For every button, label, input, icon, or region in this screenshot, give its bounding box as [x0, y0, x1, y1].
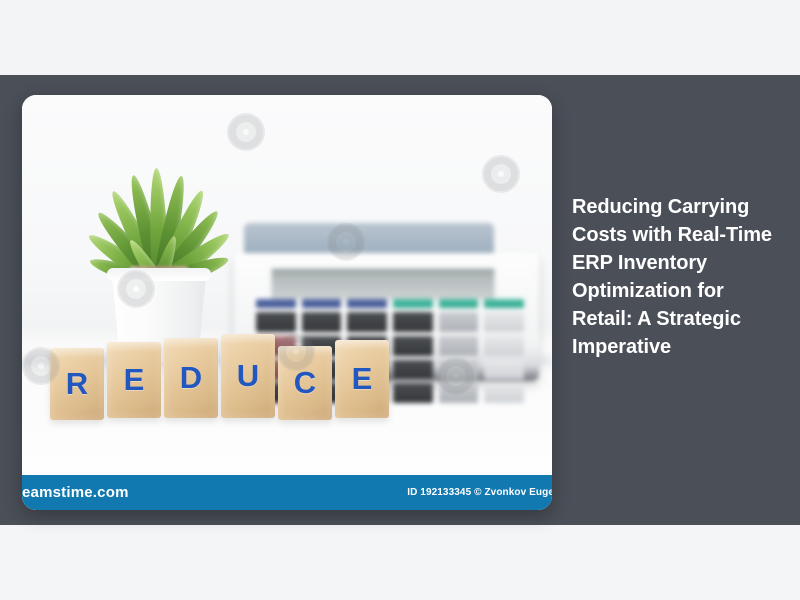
- letter-block: D: [164, 338, 218, 418]
- calculator-display: [270, 267, 496, 301]
- page-top-band: [0, 0, 800, 75]
- stock-photo: R E D U C E eamstime.com ID 192133345 © …: [22, 95, 552, 510]
- dreamstime-brand-label: eamstime.com: [22, 484, 129, 501]
- hero-section: R E D U C E eamstime.com ID 192133345 © …: [0, 75, 800, 525]
- dreamstime-watermark-icon: [482, 155, 520, 193]
- stock-photo-watermark-bar: eamstime.com ID 192133345 © Zvonkov Euge…: [22, 475, 552, 510]
- stock-photo-credit: ID 192133345 © Zvonkov Euger: [407, 487, 552, 498]
- letter-block: R: [50, 348, 104, 420]
- hero-image-card: R E D U C E eamstime.com ID 192133345 © …: [22, 95, 552, 510]
- article-title: Reducing Carrying Costs with Real-Time E…: [572, 193, 772, 361]
- page-bottom-band: [0, 525, 800, 600]
- letter-block: E: [107, 342, 161, 418]
- letter-block: U: [221, 334, 275, 418]
- pot-rim: [107, 268, 211, 281]
- letter-block: E: [335, 340, 389, 418]
- reduce-letter-blocks: R E D U C E: [50, 328, 390, 418]
- letter-block: C: [278, 346, 332, 420]
